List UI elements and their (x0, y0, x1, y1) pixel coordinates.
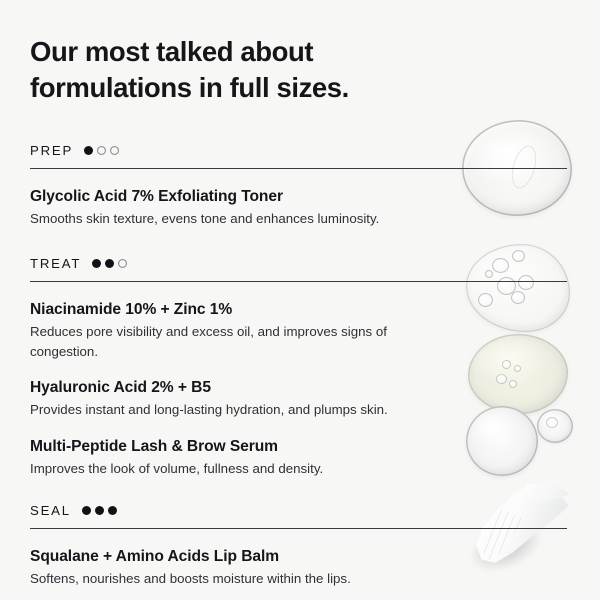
progress-dot-filled (82, 506, 91, 515)
step-progress-dots-prep (84, 146, 119, 155)
step-label-seal: SEAL (30, 503, 71, 518)
product-item[interactable]: Hyaluronic Acid 2% + B5 Provides instant… (30, 379, 570, 419)
page-title-line-1: Our most talked about (30, 34, 450, 70)
product-item[interactable]: Multi-Peptide Lash & Brow Serum Improves… (30, 438, 570, 478)
page-title-line-2: formulations in full sizes. (30, 70, 450, 106)
product-description: Provides instant and long-lasting hydrat… (30, 400, 434, 419)
progress-dot-filled (95, 506, 104, 515)
product-name: Multi-Peptide Lash & Brow Serum (30, 438, 570, 456)
step-label-treat: TREAT (30, 256, 81, 271)
step-header-seal: SEAL (30, 501, 570, 521)
product-description: Improves the look of volume, fullness an… (30, 459, 434, 478)
progress-dot-filled (105, 259, 114, 268)
product-name: Glycolic Acid 7% Exfoliating Toner (30, 188, 570, 206)
step-header-treat: TREAT (30, 254, 570, 274)
progress-dot-filled (92, 259, 101, 268)
routine-step-treat: TREAT (30, 254, 570, 283)
step-divider (30, 528, 567, 530)
routine-panel: Our most talked about formulations in fu… (0, 0, 600, 589)
progress-dot-empty (97, 146, 106, 155)
progress-dot-empty (118, 259, 127, 268)
step-divider (30, 168, 567, 170)
product-name: Hyaluronic Acid 2% + B5 (30, 379, 570, 397)
progress-dot-filled (108, 506, 117, 515)
step-progress-dots-treat (92, 259, 127, 268)
product-description: Reduces pore visibility and excess oil, … (30, 322, 434, 361)
product-item[interactable]: Glycolic Acid 7% Exfoliating Toner Smoot… (30, 188, 570, 228)
step-label-prep: PREP (30, 143, 73, 158)
product-name: Squalane + Amino Acids Lip Balm (30, 548, 570, 566)
progress-dot-empty (110, 146, 119, 155)
step-divider (30, 281, 567, 283)
step-header-prep: PREP (30, 141, 570, 161)
product-item[interactable]: Squalane + Amino Acids Lip Balm Softens,… (30, 548, 570, 588)
product-item[interactable]: Niacinamide 10% + Zinc 1% Reduces pore v… (30, 301, 570, 361)
product-description: Smooths skin texture, evens tone and enh… (30, 209, 434, 228)
routine-step-seal: SEAL (30, 501, 570, 530)
progress-dot-filled (84, 146, 93, 155)
page-title: Our most talked about formulations in fu… (30, 0, 450, 107)
step-progress-dots-seal (82, 506, 117, 515)
product-description: Softens, nourishes and boosts moisture w… (30, 569, 434, 588)
product-name: Niacinamide 10% + Zinc 1% (30, 301, 570, 319)
routine-step-prep: PREP (30, 141, 570, 170)
